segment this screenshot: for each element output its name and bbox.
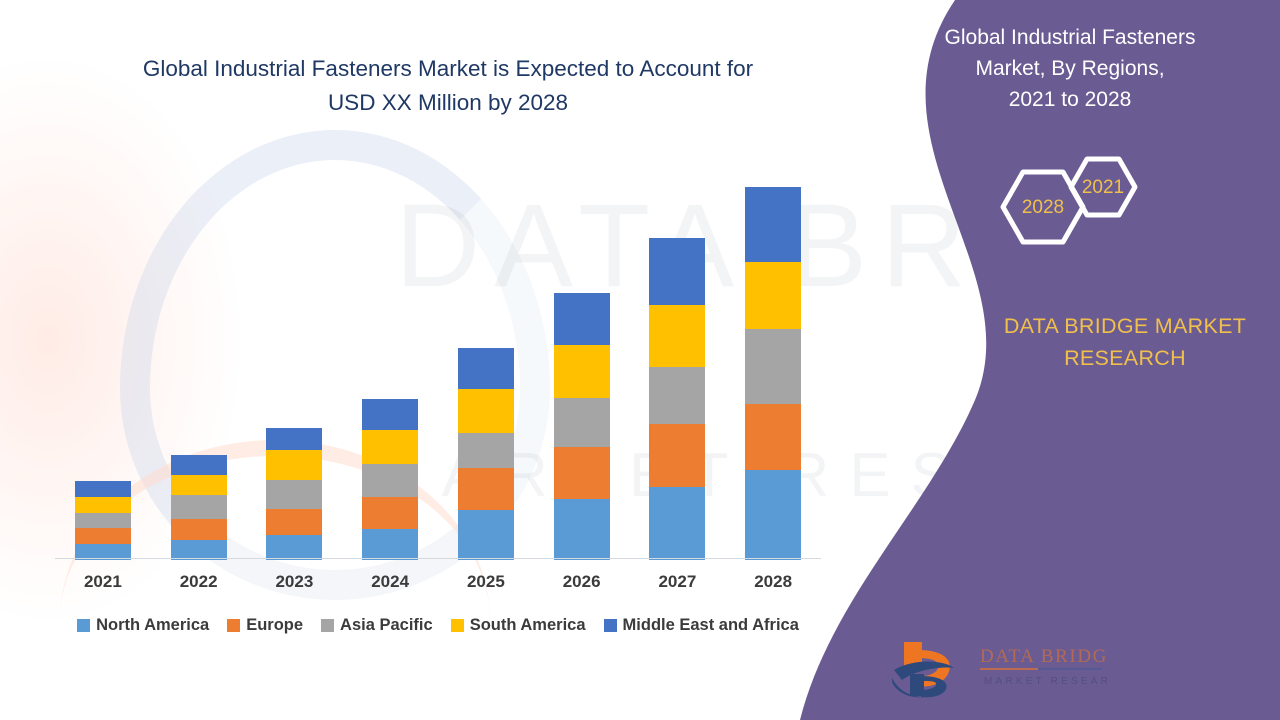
bar-segment xyxy=(171,475,227,495)
bar-segment xyxy=(745,187,801,262)
bar-segment xyxy=(75,481,131,497)
bar-group xyxy=(75,481,131,560)
bar-segment xyxy=(75,497,131,513)
bar-group xyxy=(458,348,514,560)
bar-segment xyxy=(266,535,322,560)
panel-title-line-2: Market, By Regions, xyxy=(905,53,1235,84)
panel-title: Global Industrial Fasteners Market, By R… xyxy=(905,22,1235,115)
x-axis-label: 2027 xyxy=(632,572,722,592)
bar-segment xyxy=(458,468,514,510)
company-logo: DATA BRIDGE MARKET RESEARCH xyxy=(888,638,1108,700)
legend-swatch xyxy=(227,619,240,632)
bar-segment xyxy=(745,470,801,560)
logo-wordmark-primary: DATA BRIDGE xyxy=(980,646,1108,667)
bar-group xyxy=(649,238,705,560)
bar-segment xyxy=(362,529,418,560)
legend-label: North America xyxy=(96,616,209,635)
legend-label: Middle East and Africa xyxy=(623,616,799,635)
x-axis-label: 2026 xyxy=(537,572,627,592)
hexagon-2028-label: 2028 xyxy=(1022,197,1064,218)
bar-segment xyxy=(554,293,610,345)
bar-segment xyxy=(649,424,705,487)
bar-segment xyxy=(362,430,418,464)
x-axis-label: 2024 xyxy=(345,572,435,592)
hexagon-badges: 2028 2021 xyxy=(975,145,1175,270)
brand-name-line-2: RESEARCH xyxy=(975,342,1275,374)
brand-name: DATA BRIDGE MARKET RESEARCH xyxy=(975,310,1275,374)
bar-segment xyxy=(554,345,610,398)
bar-segment xyxy=(75,528,131,544)
legend-item[interactable]: Asia Pacific xyxy=(321,616,433,635)
legend-label: Europe xyxy=(246,616,303,635)
legend-swatch xyxy=(321,619,334,632)
bar-segment xyxy=(458,510,514,560)
brand-name-line-1: DATA BRIDGE MARKET xyxy=(975,310,1275,342)
bar-segment xyxy=(362,464,418,497)
bar-segment xyxy=(266,509,322,535)
chart-legend: North AmericaEuropeAsia PacificSouth Ame… xyxy=(55,616,821,635)
legend-item[interactable]: South America xyxy=(451,616,586,635)
bar-segment xyxy=(171,495,227,519)
logo-wordmark-secondary: MARKET RESEARCH xyxy=(984,676,1108,687)
bar-segment xyxy=(745,329,801,404)
legend-swatch xyxy=(604,619,617,632)
hexagon-2021-label: 2021 xyxy=(1082,177,1124,198)
legend-label: South America xyxy=(470,616,586,635)
bar-segment xyxy=(554,499,610,560)
bar-segment xyxy=(171,519,227,540)
legend-swatch xyxy=(77,619,90,632)
bar-group xyxy=(362,399,418,560)
bar-segment xyxy=(362,497,418,529)
bar-segment xyxy=(649,305,705,367)
bar-segment xyxy=(649,487,705,560)
bar-segment xyxy=(266,480,322,509)
bar-group xyxy=(266,428,322,560)
bar-group xyxy=(171,455,227,560)
x-axis-line xyxy=(55,558,821,559)
legend-swatch xyxy=(451,619,464,632)
page-title-line-2: USD XX Million by 2028 xyxy=(92,86,804,120)
bar-segment xyxy=(458,389,514,433)
bar-segment xyxy=(745,404,801,470)
panel-title-line-1: Global Industrial Fasteners xyxy=(905,22,1235,53)
bar-segment xyxy=(362,399,418,430)
bar-segment xyxy=(554,398,610,447)
x-axis-label: 2022 xyxy=(154,572,244,592)
x-axis-label: 2028 xyxy=(728,572,818,592)
bar-segment xyxy=(75,513,131,528)
bar-segment xyxy=(171,540,227,560)
bar-segment xyxy=(745,262,801,329)
x-axis-label: 2025 xyxy=(441,572,531,592)
logo-mark xyxy=(892,642,954,697)
legend-item[interactable]: North America xyxy=(77,616,209,635)
bar-segment xyxy=(649,238,705,305)
bar-segment xyxy=(458,348,514,389)
legend-label: Asia Pacific xyxy=(340,616,433,635)
bar-segment xyxy=(171,455,227,475)
legend-item[interactable]: Europe xyxy=(227,616,303,635)
page-title-line-1: Global Industrial Fasteners Market is Ex… xyxy=(92,52,804,86)
legend-item[interactable]: Middle East and Africa xyxy=(604,616,799,635)
stacked-bar-chart xyxy=(55,150,821,560)
bar-group xyxy=(554,293,610,560)
bar-segment xyxy=(458,433,514,468)
x-axis-label: 2023 xyxy=(249,572,339,592)
bar-segment xyxy=(266,450,322,480)
bar-group xyxy=(745,187,801,560)
page-title: Global Industrial Fasteners Market is Ex… xyxy=(92,52,804,120)
bar-segment xyxy=(649,367,705,424)
bar-segment xyxy=(554,447,610,499)
bar-segment xyxy=(266,428,322,450)
panel-title-line-3: 2021 to 2028 xyxy=(905,84,1235,115)
x-axis-labels: 20212022202320242025202620272028 xyxy=(55,572,821,602)
infographic-root: DATA BRIDGE MARKET RESEARCH Global Indus… xyxy=(0,0,1280,720)
x-axis-label: 2021 xyxy=(58,572,148,592)
